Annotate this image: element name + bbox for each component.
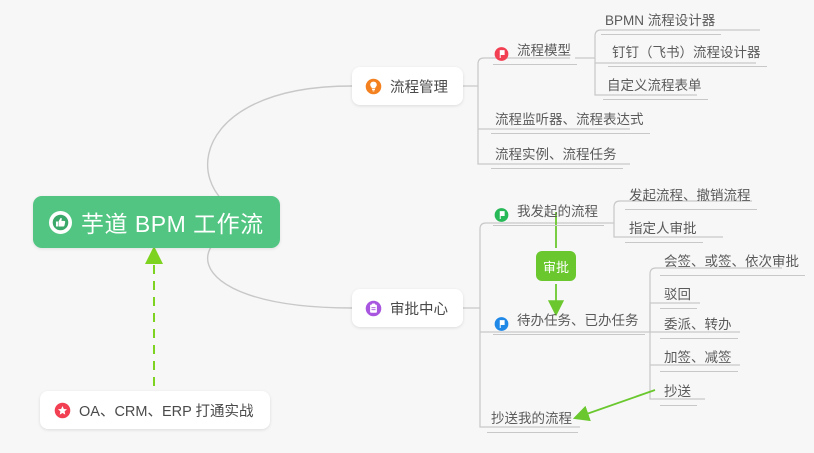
leaf-instance-task[interactable]: 流程实例、流程任务: [491, 148, 623, 169]
flag-icon-blue: [493, 315, 510, 332]
leaf-label-reject: 驳回: [664, 287, 691, 302]
clipboard-icon: [365, 300, 382, 317]
callout-node-integration[interactable]: OA、CRM、ERP 打通实战: [40, 391, 270, 429]
leaf-label-assignee-approval: 指定人审批: [629, 221, 697, 236]
leaf-add-remove-sign[interactable]: 加签、减签: [660, 351, 738, 372]
leaf-cc[interactable]: 抄送: [660, 385, 697, 406]
leaf-label-process-model: 流程模型: [517, 43, 571, 58]
leaf-todo-done-tasks[interactable]: 待办任务、已办任务: [493, 314, 645, 335]
branch-node-process-management[interactable]: 流程管理: [352, 67, 463, 105]
leaf-label-add-remove-sign: 加签、减签: [664, 350, 732, 365]
flag-icon-red: [493, 45, 510, 62]
leaf-label-listener-expression: 流程监听器、流程表达式: [495, 112, 644, 127]
leaf-label-cc: 抄送: [664, 384, 691, 399]
leaf-label-custom-form: 自定义流程表单: [607, 78, 702, 93]
leaf-label-start-cancel-process: 发起流程、撤销流程: [629, 188, 751, 203]
annotation-pill-approval: 审批: [536, 251, 576, 281]
lightbulb-icon: [365, 78, 382, 95]
leaf-listener-expression[interactable]: 流程监听器、流程表达式: [491, 113, 650, 134]
root-node[interactable]: 芋道 BPM 工作流: [33, 196, 280, 248]
leaf-label-my-processes: 我发起的流程: [517, 204, 598, 219]
branch-node-approval-center[interactable]: 审批中心: [352, 289, 463, 327]
callout-label: OA、CRM、ERP 打通实战: [79, 400, 254, 421]
branch-label-process-management: 流程管理: [390, 76, 448, 97]
leaf-cc-my-processes[interactable]: 抄送我的流程: [487, 412, 578, 433]
leaf-label-countersign: 会签、或签、依次审批: [664, 254, 799, 269]
star-icon: [54, 402, 71, 419]
annotation-pill-label: 审批: [543, 257, 569, 276]
leaf-countersign[interactable]: 会签、或签、依次审批: [660, 255, 805, 276]
leaf-bpmn-designer[interactable]: BPMN 流程设计器: [601, 14, 721, 35]
leaf-label-delegate-transfer: 委派、转办: [664, 317, 732, 332]
leaf-my-processes[interactable]: 我发起的流程: [493, 205, 604, 226]
root-label: 芋道 BPM 工作流: [81, 205, 264, 239]
leaf-label-instance-task: 流程实例、流程任务: [495, 147, 617, 162]
leaf-reject[interactable]: 驳回: [660, 288, 697, 309]
thumbs-up-icon: [49, 211, 72, 234]
leaf-delegate-transfer[interactable]: 委派、转办: [660, 318, 738, 339]
leaf-label-bpmn-designer: BPMN 流程设计器: [605, 13, 715, 28]
arrow-cc-to-my-cc: [578, 390, 655, 417]
leaf-start-cancel-process[interactable]: 发起流程、撤销流程: [625, 189, 757, 210]
leaf-label-todo-done-tasks: 待办任务、已办任务: [517, 313, 639, 328]
mindmap-canvas: 芋道 BPM 工作流 流程管理 审批中心: [0, 0, 814, 453]
leaf-dingtalk-designer[interactable]: 钉钉（飞书）流程设计器: [608, 46, 767, 67]
branch-label-approval-center: 审批中心: [390, 298, 448, 319]
leaf-assignee-approval[interactable]: 指定人审批: [625, 222, 703, 243]
flag-icon-green: [493, 206, 510, 223]
leaf-custom-form[interactable]: 自定义流程表单: [603, 79, 708, 100]
leaf-process-model[interactable]: 流程模型: [493, 44, 577, 65]
leaf-label-cc-my-processes: 抄送我的流程: [491, 411, 572, 426]
leaf-label-dingtalk-designer: 钉钉（飞书）流程设计器: [612, 45, 761, 60]
